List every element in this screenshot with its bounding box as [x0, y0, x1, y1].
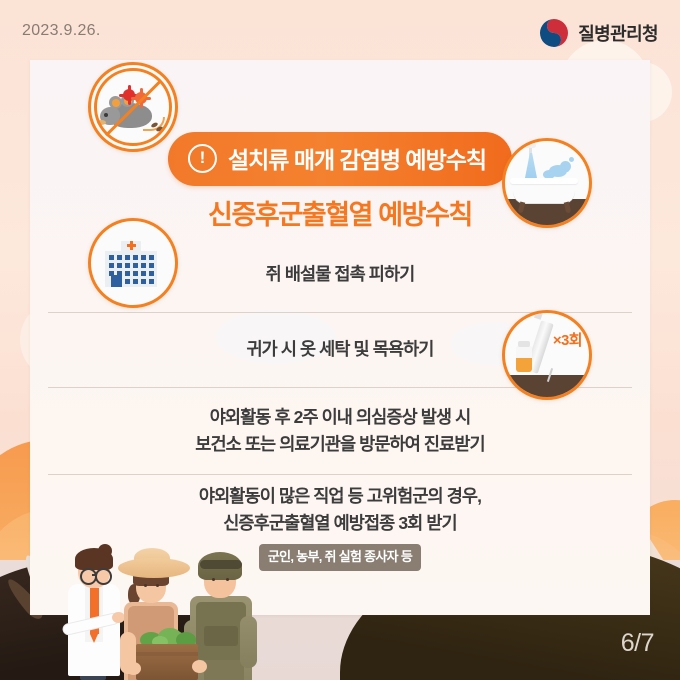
rule-text: 쥐 배설물 접촉 피하기 — [266, 261, 415, 288]
dose-count-badge: ×3회 — [553, 329, 582, 350]
taegeuk-logo-icon — [539, 18, 569, 48]
rule-text-line: 야외활동이 많은 직업 등 고위험군의 경우, — [199, 483, 481, 510]
rule-text-line: 보건소 또는 의료기관을 방문하여 진료받기 — [195, 431, 484, 458]
people-illustration — [58, 540, 288, 680]
rule-text: 야외활동 후 2주 이내 의심증상 발생 시 보건소 또는 의료기관을 방문하여… — [195, 404, 484, 458]
infographic-slide: 2023.9.26. 질병관리청 ! 설치류 매개 감염병 예방수칙 신증후군출… — [0, 0, 680, 680]
syringe-icon: ×3회 — [502, 310, 592, 400]
no-rat-icon — [88, 62, 178, 152]
rule-text-line: 신증후군출혈열 예방접종 3회 받기 — [199, 510, 481, 537]
rule-text-line: 야외활동 후 2주 이내 의심증상 발생 시 — [195, 404, 484, 431]
slide-date: 2023.9.26. — [22, 22, 101, 40]
bathtub-icon — [502, 138, 592, 228]
agency-name: 질병관리청 — [578, 20, 658, 46]
exclamation-circle-icon: ! — [188, 144, 217, 173]
banner-pill: ! 설치류 매개 감염병 예방수칙 — [168, 132, 512, 186]
agency-branding: 질병관리청 — [539, 18, 658, 48]
prohibition-slash-icon — [94, 68, 172, 146]
rule-row: 야외활동 후 2주 이내 의심증상 발생 시 보건소 또는 의료기관을 방문하여… — [30, 388, 650, 474]
rule-text: 귀가 시 옷 세탁 및 목욕하기 — [246, 336, 433, 363]
content-card: ! 설치류 매개 감염병 예방수칙 신증후군출혈열 예방수칙 쥐 배설물 접촉 … — [30, 60, 650, 615]
hospital-icon — [88, 218, 178, 308]
page-number: 6/7 — [621, 629, 654, 658]
banner-label: 설치류 매개 감염병 예방수칙 — [228, 141, 486, 175]
